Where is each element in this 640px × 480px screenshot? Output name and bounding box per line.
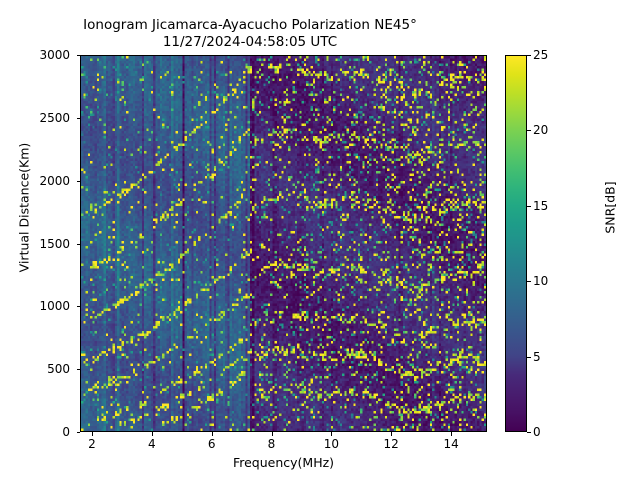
colorbar-tick — [527, 281, 531, 282]
x-tick — [212, 432, 213, 436]
colorbar[interactable] — [505, 55, 527, 432]
y-tick — [77, 181, 81, 182]
y-tick — [77, 432, 81, 433]
y-axis-label: Virtual Distance(Km) — [17, 118, 32, 298]
colorbar-tick — [527, 206, 531, 207]
y-tick-label: 3000 — [0, 48, 70, 62]
colorbar-tick — [527, 55, 531, 56]
x-tick — [331, 432, 332, 436]
x-tick — [451, 432, 452, 436]
colorbar-label: SNR[dB] — [603, 118, 618, 298]
y-tick — [77, 244, 81, 245]
chart-title: Ionogram Jicamarca-Ayacucho Polarization… — [0, 17, 500, 50]
x-tick — [272, 432, 273, 436]
x-tick-label: 8 — [252, 437, 292, 451]
colorbar-tick — [527, 130, 531, 131]
colorbar-tick — [527, 357, 531, 358]
colorbar-tick-label: 25 — [533, 48, 548, 62]
heatmap-canvas — [81, 56, 486, 431]
y-tick-label: 500 — [0, 362, 70, 376]
x-tick-label: 12 — [371, 437, 411, 451]
y-tick-label: 1500 — [0, 237, 70, 251]
y-tick — [77, 118, 81, 119]
x-tick-label: 10 — [311, 437, 351, 451]
x-tick — [152, 432, 153, 436]
y-tick — [77, 306, 81, 307]
x-tick-label: 14 — [431, 437, 471, 451]
y-tick-label: 2000 — [0, 174, 70, 188]
x-tick — [92, 432, 93, 436]
colorbar-tick-label: 10 — [533, 274, 548, 288]
ionogram-figure: Ionogram Jicamarca-Ayacucho Polarization… — [0, 0, 640, 480]
x-tick-label: 6 — [192, 437, 232, 451]
colorbar-tick-label: 20 — [533, 123, 548, 137]
heatmap-plot-area[interactable] — [80, 55, 487, 432]
y-tick — [77, 369, 81, 370]
x-tick-label: 4 — [132, 437, 172, 451]
x-tick — [391, 432, 392, 436]
y-tick-label: 1000 — [0, 299, 70, 313]
x-tick-label: 2 — [72, 437, 112, 451]
colorbar-tick-label: 5 — [533, 350, 541, 364]
colorbar-tick-label: 0 — [533, 425, 541, 439]
y-tick — [77, 55, 81, 56]
x-axis-label: Frequency(MHz) — [80, 455, 487, 470]
y-tick-label: 2500 — [0, 111, 70, 125]
colorbar-tick-label: 15 — [533, 199, 548, 213]
y-tick-label: 0 — [0, 425, 70, 439]
colorbar-tick — [527, 432, 531, 433]
